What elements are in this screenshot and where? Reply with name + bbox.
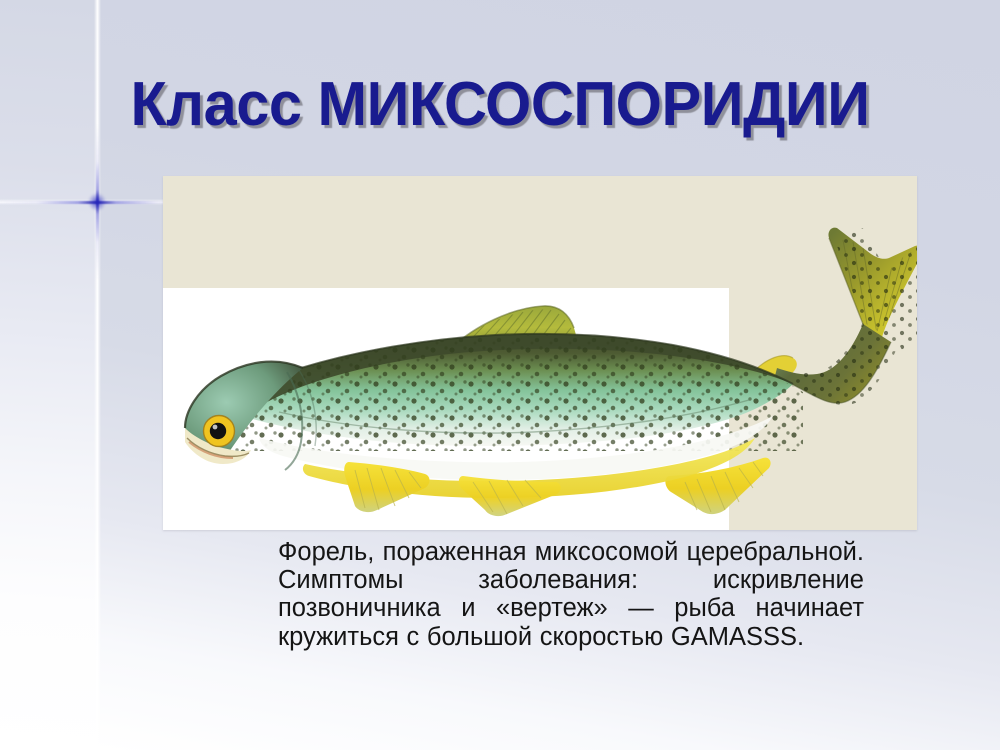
presentation-slide: Класс МИКСОСПОРИДИИ <box>0 0 1000 750</box>
sparkle-core-glow <box>88 193 106 211</box>
image-caption: Форель, пораженная миксосомой церебральн… <box>278 538 864 651</box>
fish-eye-pupil <box>210 423 226 439</box>
pelvic-fin <box>459 476 561 516</box>
trout-drawing <box>163 176 917 530</box>
slide-title: Класс МИКСОСПОРИДИИ <box>20 74 980 136</box>
trout-illustration-image <box>163 176 917 530</box>
caption-text: Форель, пораженная миксосомой церебральн… <box>278 538 864 651</box>
